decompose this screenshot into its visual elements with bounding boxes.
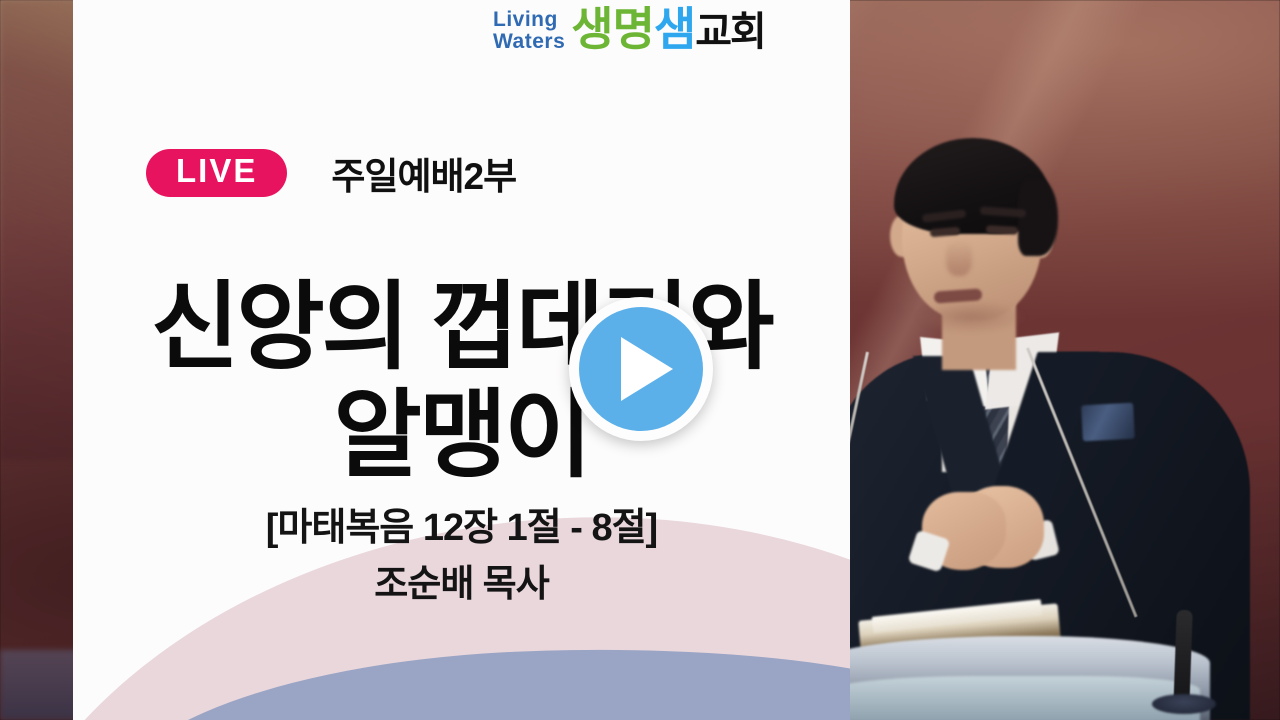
- live-status-row: LIVE 주일예배2부: [146, 146, 516, 200]
- logo-english-text: Living Waters: [493, 6, 565, 52]
- eye-right: [986, 225, 1018, 235]
- logo-english-line2: Waters: [493, 31, 565, 52]
- speaker-name: 조순배 목사: [73, 561, 850, 607]
- sermon-title: 신앙의 껍데기와 알맹이: [73, 274, 850, 489]
- play-triangle-icon: [621, 337, 673, 401]
- play-button-disc: [579, 307, 703, 431]
- church-logo: Living Waters 생명샘교회: [493, 6, 765, 52]
- logo-korean-saengmyeong: 생명: [571, 3, 654, 55]
- logo-english-line1: Living: [493, 9, 565, 30]
- pocket-square: [1081, 403, 1135, 442]
- scripture-reference: [마태복음 12장 1절 - 8절]: [73, 505, 850, 553]
- logo-korean-gyohoe: 교회: [695, 10, 765, 54]
- nose: [946, 240, 972, 276]
- logo-korean-text: 생명샘교회: [571, 6, 765, 52]
- pastor-photo: [850, 0, 1280, 720]
- video-thumbnail-stage: Living Waters 생명샘교회 LIVE 주일예배2부 신앙의 껍데기와…: [0, 0, 1280, 720]
- microphone-base: [1152, 694, 1216, 714]
- hair-sideburn: [1018, 178, 1058, 256]
- sermon-subtitle: [마태복음 12장 1절 - 8절] 조순배 목사: [73, 505, 850, 607]
- chin-shadow: [916, 300, 1026, 334]
- live-badge[interactable]: LIVE: [146, 149, 287, 197]
- pulpit-glass-panel: [850, 676, 1200, 720]
- service-name-label: 주일예배2부: [331, 146, 516, 200]
- play-button[interactable]: [569, 297, 713, 441]
- sermon-title-line2: 알맹이: [73, 382, 850, 490]
- logo-korean-saem: 샘: [654, 3, 695, 55]
